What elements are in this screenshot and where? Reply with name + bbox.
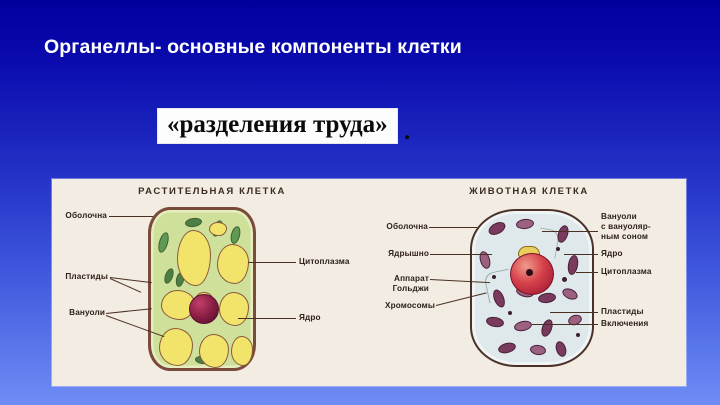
quote-text: «разделения труда» — [167, 112, 388, 138]
plant-label-obolochka: Оболочна — [52, 211, 107, 221]
animal-cell-body — [470, 209, 594, 367]
plastid-shape — [229, 225, 242, 245]
vacuole-shape — [217, 244, 249, 284]
vacuole-shape — [199, 334, 229, 368]
inclusion-dot — [508, 311, 512, 315]
chromosome-shape — [554, 340, 568, 358]
plant-cell-figure: РАСТИТЕЛЬНАЯ КЛЕТКА — [52, 179, 372, 386]
leader-line — [542, 231, 598, 232]
plastid-shape — [163, 267, 176, 285]
animal-label-golgi-line1: Аппарат — [372, 274, 429, 284]
inclusion-dot — [492, 275, 496, 279]
animal-label-vklucheniya: Включения — [601, 319, 648, 329]
leader-line — [564, 254, 598, 255]
chromosome-shape — [478, 250, 493, 270]
plant-cell-body — [148, 207, 256, 371]
animal-label-plastidy: Пластиды — [601, 307, 644, 317]
chromosome-shape — [561, 286, 580, 302]
chromosome-shape — [516, 218, 535, 230]
vacuole-shape — [231, 336, 253, 366]
inclusion-dot — [576, 333, 580, 337]
cell-diagram-panel: РАСТИТЕЛЬНАЯ КЛЕТКА — [52, 179, 686, 386]
plant-label-citoplazma: Цитоплазма — [299, 257, 350, 267]
chromosome-shape — [513, 319, 533, 333]
vacuole-shape — [219, 292, 249, 326]
chromosome-shape — [555, 224, 570, 244]
leader-line — [430, 254, 492, 255]
animal-label-vakuoli-line2: с вануоляр- — [601, 222, 651, 232]
nucleus-shape — [189, 294, 219, 324]
animal-cell-figure: ЖИВОТНАЯ КЛЕТКА — [372, 179, 686, 386]
leader-line — [238, 318, 296, 319]
nucleolus-shape — [526, 269, 533, 276]
leader-line — [576, 272, 598, 273]
leader-line — [248, 262, 296, 263]
leader-line — [550, 312, 598, 313]
plant-cell-heading: РАСТИТЕЛЬНАЯ КЛЕТКА — [52, 186, 372, 197]
quote-period: . — [404, 118, 410, 146]
inclusion-dot — [562, 277, 567, 282]
vacuole-shape — [209, 222, 227, 236]
chromosome-shape — [486, 219, 507, 237]
plastid-shape — [156, 231, 170, 254]
chromosome-shape — [485, 316, 504, 329]
chromosome-shape — [537, 292, 556, 304]
inclusion-dot — [556, 247, 560, 251]
animal-label-vakuoli-line1: Вануоли — [601, 212, 637, 222]
chromosome-shape — [529, 344, 546, 356]
page-title: Органеллы- основные компоненты клетки — [44, 36, 462, 59]
vacuole-shape — [177, 230, 211, 286]
animal-cell-heading: ЖИВОТНАЯ КЛЕТКА — [372, 186, 686, 197]
animal-label-hromosomy: Хромосомы — [372, 301, 435, 311]
leader-line — [532, 324, 598, 325]
plastid-shape — [184, 217, 202, 228]
quote-box: «разделения труда» — [157, 108, 398, 144]
chromosome-shape — [497, 341, 517, 355]
plant-label-plastidy: Пластиды — [52, 272, 108, 282]
animal-label-citoplazma: Цитоплазма — [601, 267, 652, 277]
chromosome-shape — [539, 318, 555, 338]
animal-label-yadro: Ядро — [601, 249, 623, 259]
leader-line — [109, 216, 153, 217]
plant-label-yadro: Ядро — [299, 313, 321, 323]
plant-label-vakuoli: Вануоли — [52, 308, 105, 318]
animal-label-golgi-line2: Гольджи — [372, 284, 429, 294]
vacuole-shape — [159, 328, 193, 366]
animal-label-yadryshko: Ядрышно — [372, 249, 429, 259]
leader-line — [106, 308, 152, 314]
animal-label-vakuoli-line3: ным соном — [601, 232, 648, 242]
leader-line — [429, 227, 477, 228]
animal-label-obolochka: Оболочна — [372, 222, 428, 232]
